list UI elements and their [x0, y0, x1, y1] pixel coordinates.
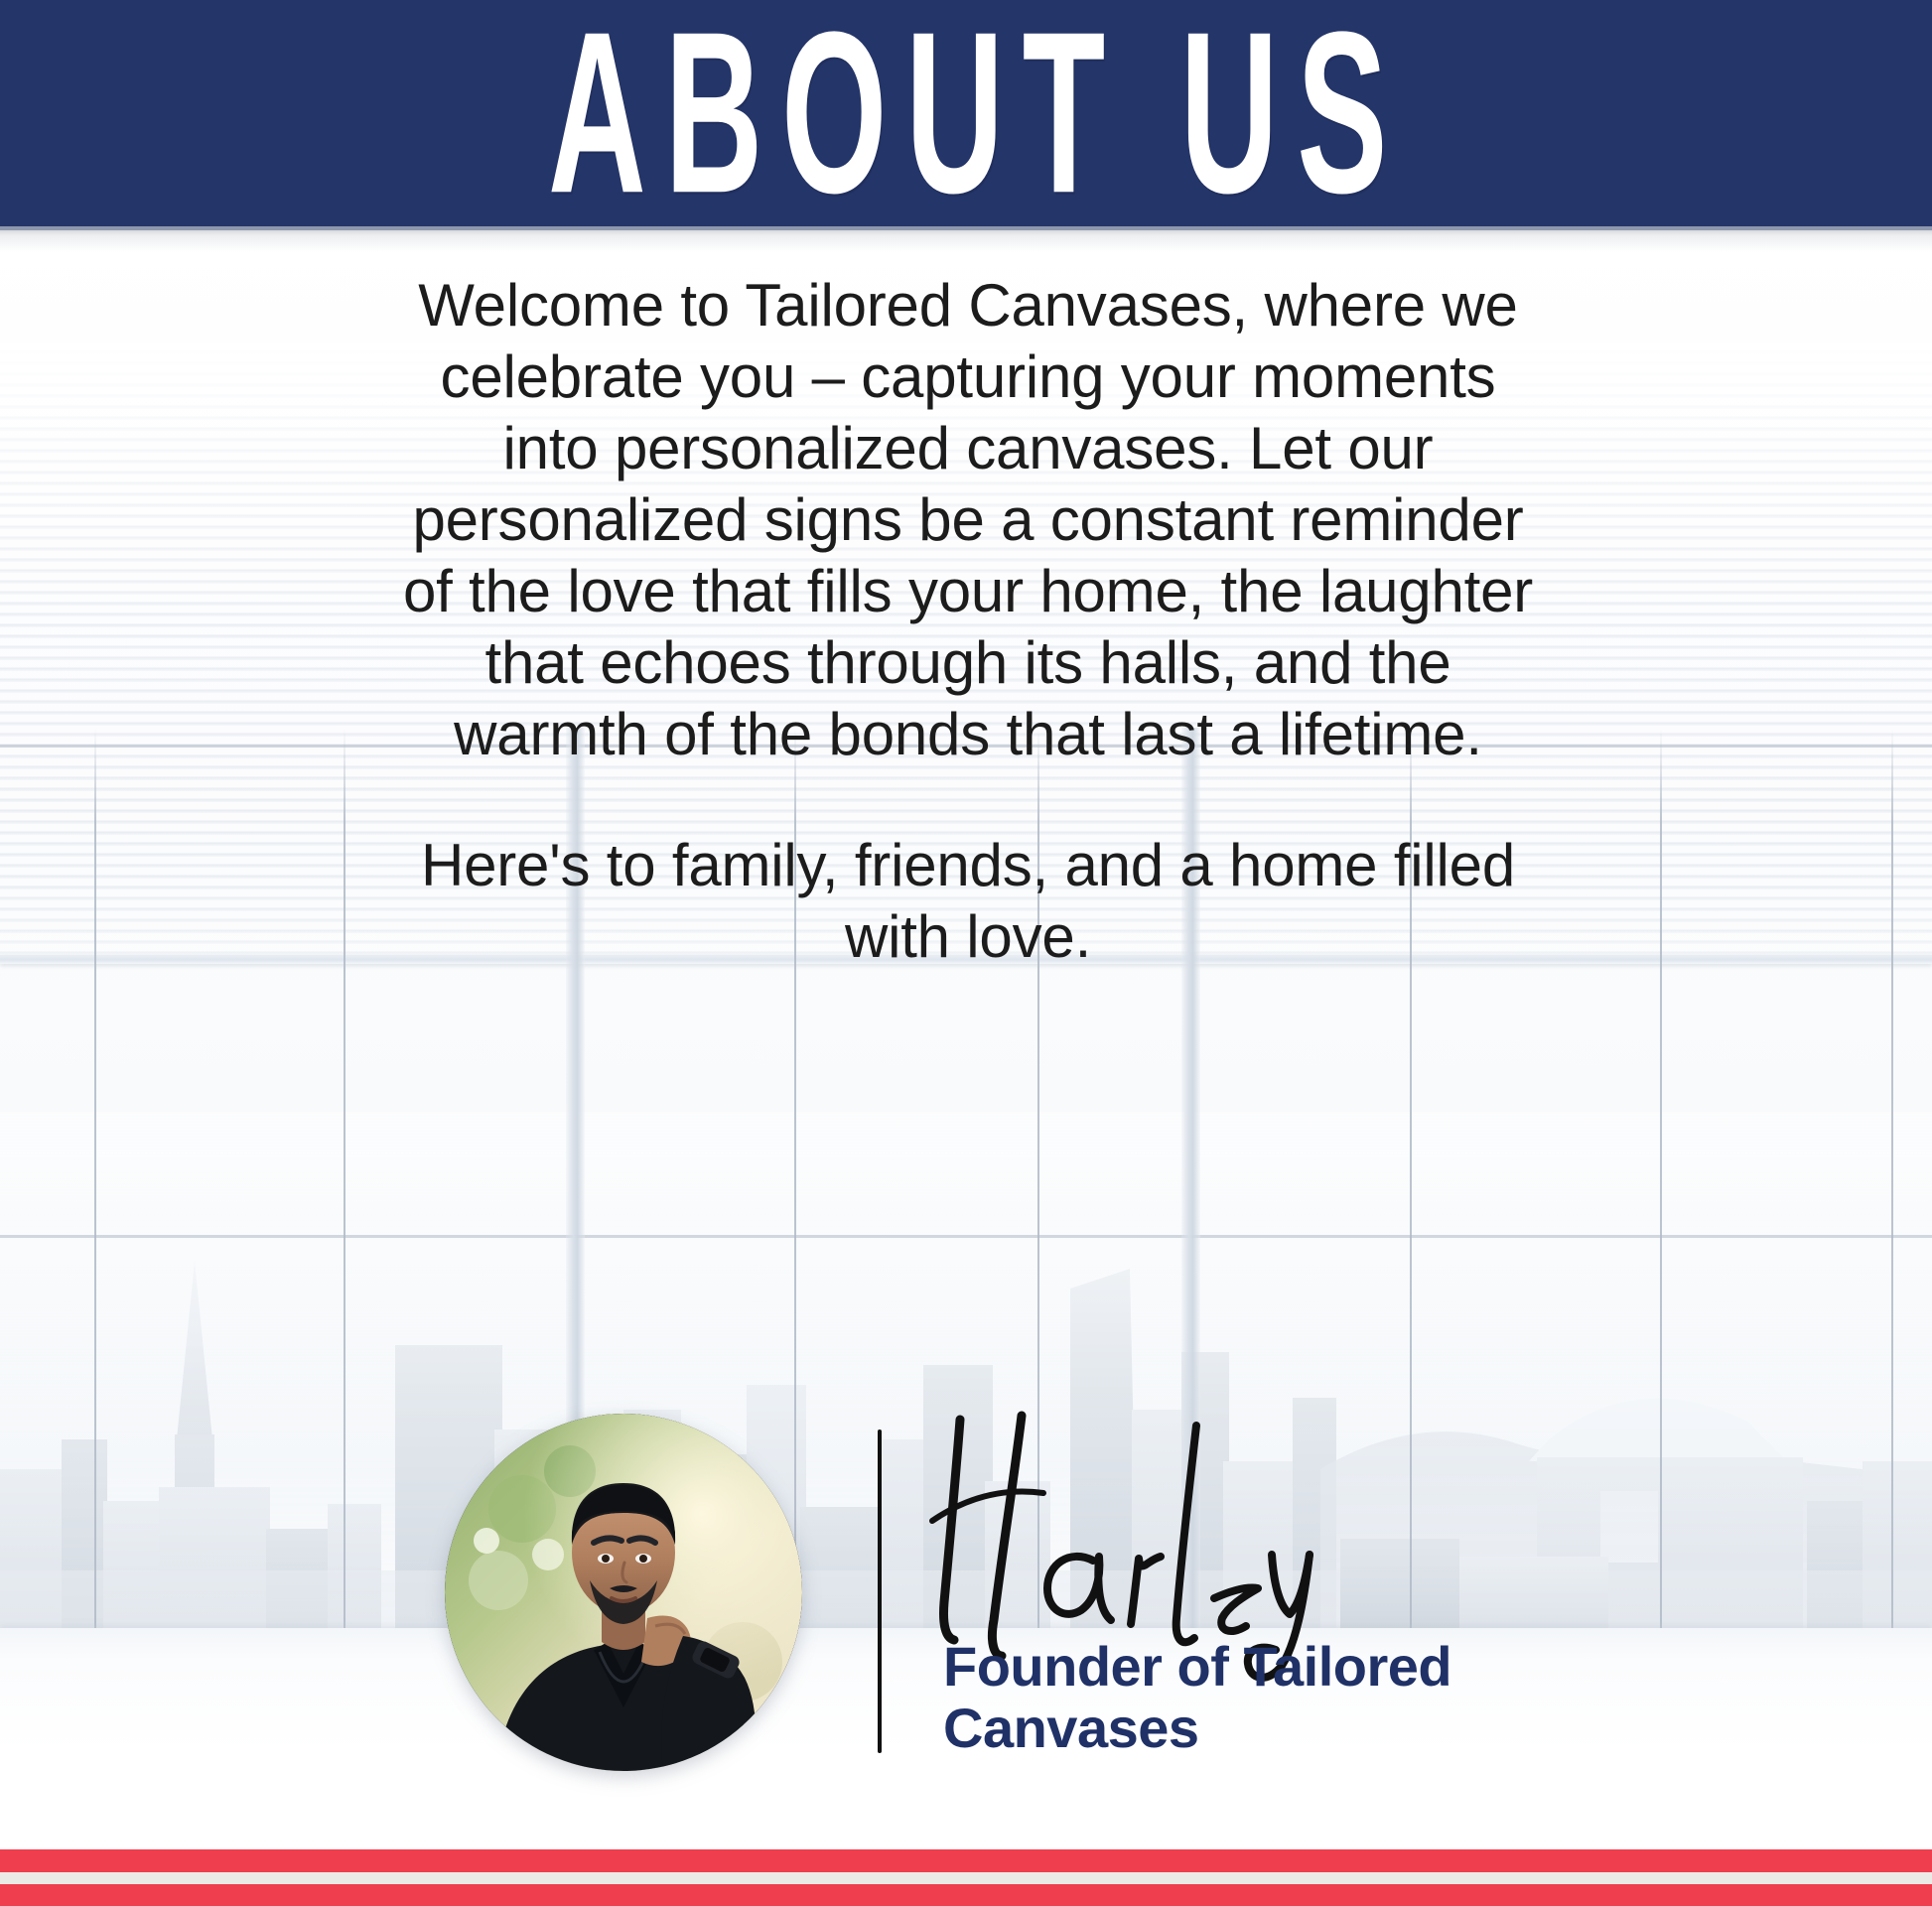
copy-line: celebrate you – capturing your moments	[208, 341, 1727, 413]
copy-line: Welcome to Tailored Canvases, where we	[208, 270, 1727, 341]
header-banner: ABOUT US	[0, 0, 1932, 226]
signature-divider	[878, 1429, 882, 1753]
about-us-graphic: ABOUT US Welcome to Tailored Canvases, w…	[0, 0, 1932, 1906]
copy-line: with love.	[208, 901, 1727, 973]
copy-line: Here's to family, friends, and a home fi…	[208, 830, 1727, 901]
about-us-copy: Welcome to Tailored Canvases, where we c…	[208, 270, 1727, 973]
copy-line: into personalized canvases. Let our	[208, 413, 1727, 484]
copy-line: personalized signs be a constant reminde…	[208, 484, 1727, 556]
founder-title-line-1: Founder of Tailored	[943, 1636, 1618, 1698]
header-bottom-edge	[0, 226, 1932, 230]
copy-line: of the love that fills your home, the la…	[208, 556, 1727, 627]
window-horizontal-rail-lower	[0, 1235, 1932, 1238]
founder-title-line-2: Canvases	[943, 1698, 1618, 1759]
copy-line: warmth of the bonds that last a lifetime…	[208, 699, 1727, 770]
footer-stripe-top	[0, 1849, 1932, 1872]
footer-stripe-bottom	[0, 1884, 1932, 1906]
avatar	[445, 1414, 802, 1771]
copy-line: that echoes through its halls, and the	[208, 627, 1727, 699]
paragraph-spacer	[208, 770, 1727, 830]
page-title: ABOUT US	[548, 3, 1406, 224]
footer-stripe-gap	[0, 1872, 1932, 1884]
founder-title: Founder of Tailored Canvases	[943, 1636, 1618, 1758]
